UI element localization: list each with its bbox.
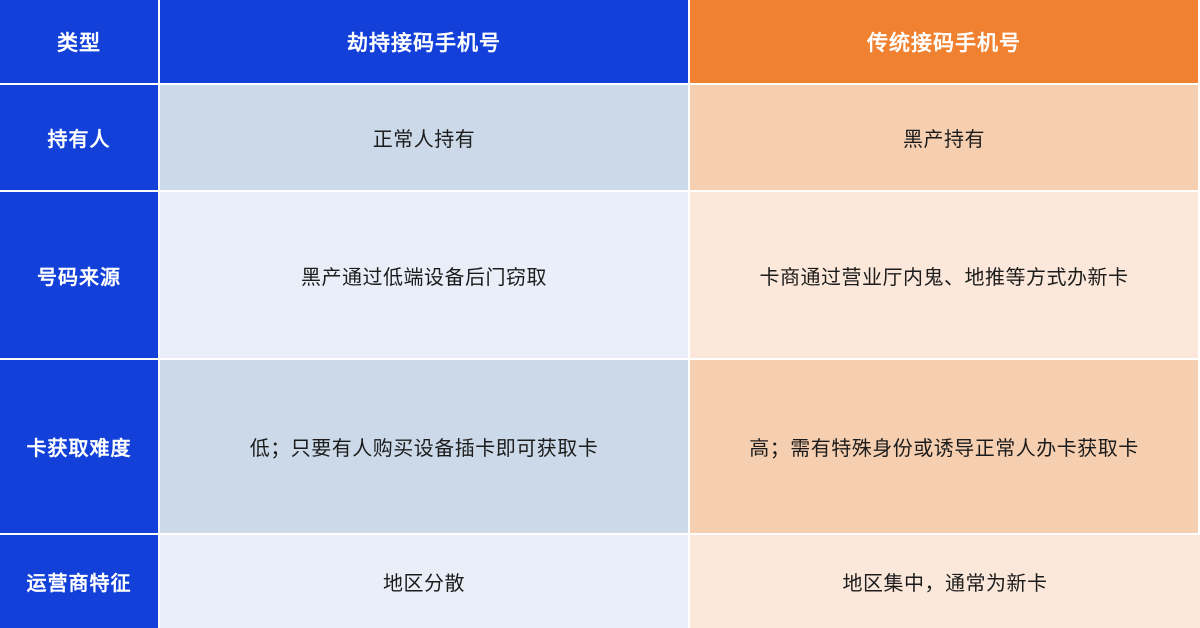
row-label-holder: 持有人 <box>0 85 160 192</box>
row-label-carrier-feature: 运营商特征 <box>0 535 160 628</box>
row-holder-hijacked-value: 正常人持有 <box>160 85 690 192</box>
row-carrier-feature-hijacked-value: 地区分散 <box>160 535 690 628</box>
row-card-difficulty-traditional-value: 高；需有特殊身份或诱导正常人办卡获取卡 <box>690 360 1200 535</box>
row-carrier-feature-traditional-value: 地区集中，通常为新卡 <box>690 535 1200 628</box>
header-cell-type: 类型 <box>0 0 160 85</box>
row-holder-traditional-value: 黑产持有 <box>690 85 1200 192</box>
row-card-difficulty-hijacked-value: 低；只要有人购买设备插卡即可获取卡 <box>160 360 690 535</box>
header-cell-traditional: 传统接码手机号 <box>690 0 1200 85</box>
row-label-card-difficulty: 卡获取难度 <box>0 360 160 535</box>
row-number-source-hijacked-value: 黑产通过低端设备后门窃取 <box>160 192 690 360</box>
row-number-source-traditional-value: 卡商通过营业厅内鬼、地推等方式办新卡 <box>690 192 1200 360</box>
comparison-table: 威胁猎人 THREAT HUNTER 类型 劫持接码手机号 传统接码手机号 持有… <box>0 0 1200 628</box>
row-label-number-source: 号码来源 <box>0 192 160 360</box>
header-cell-hijacked: 劫持接码手机号 <box>160 0 690 85</box>
